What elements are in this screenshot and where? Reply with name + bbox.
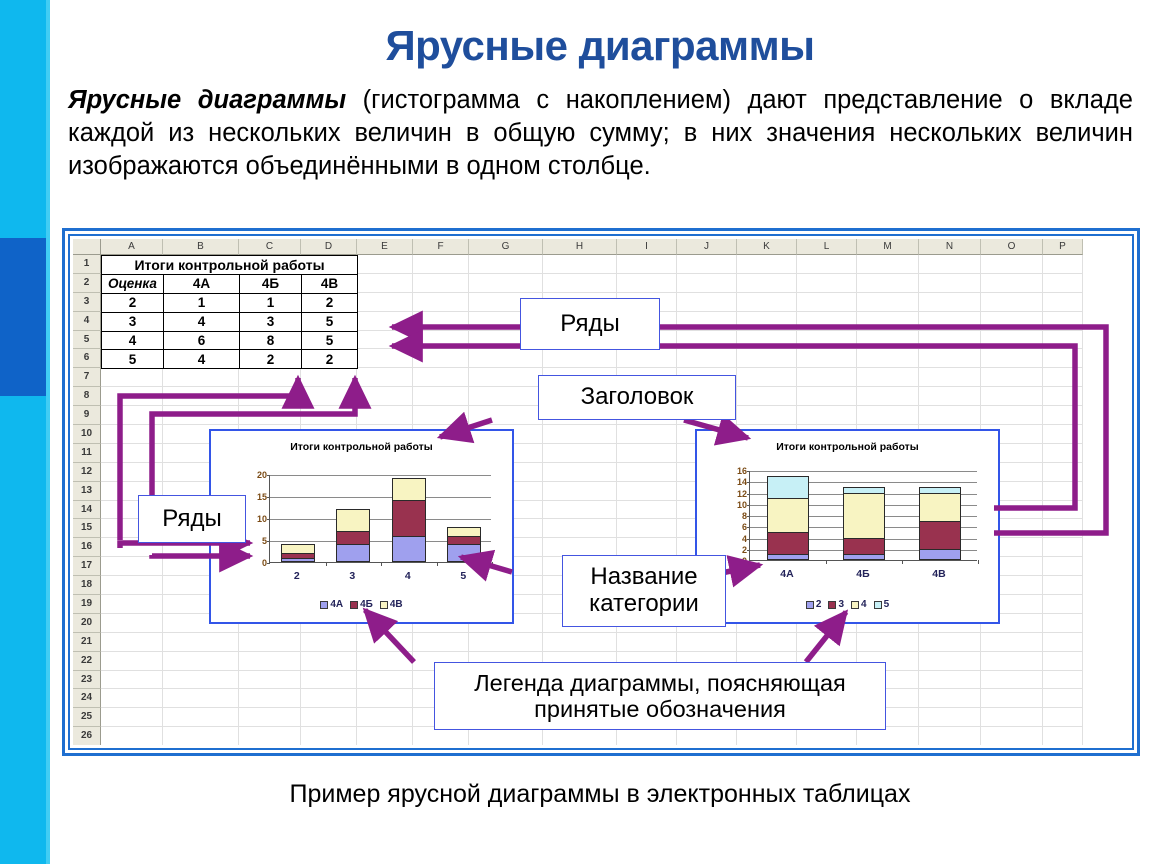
grid-cell[interactable] [981,255,1043,274]
grid-cell[interactable] [857,368,919,387]
grid-cell[interactable] [919,349,981,368]
column-header-M[interactable]: M [857,239,919,255]
grid-cell[interactable] [617,633,677,652]
grid-cell[interactable] [857,255,919,274]
grid-cell[interactable] [919,633,981,652]
grid-cell[interactable] [857,274,919,293]
grid-cell[interactable] [357,652,413,671]
bar-segment[interactable] [843,554,885,560]
grid-cell[interactable] [1043,652,1083,671]
grid-cell[interactable] [737,255,797,274]
table-row: 2112 [102,293,358,312]
row-header-5[interactable]: 5 [73,331,101,350]
table-cell[interactable]: 1 [164,293,240,312]
grid-cell[interactable] [101,708,163,727]
grid-cell[interactable] [469,255,543,274]
grid-cell[interactable] [857,406,919,425]
grid-cell[interactable] [1043,444,1083,463]
column-header-H[interactable]: H [543,239,617,255]
grid-cell[interactable] [1043,349,1083,368]
bar-segment[interactable] [767,554,809,560]
grid-cell[interactable] [919,671,981,690]
row-header-4[interactable]: 4 [73,312,101,331]
legend-entry[interactable]: 3 [828,599,844,610]
grid-cell[interactable] [543,255,617,274]
bar-segment[interactable] [281,544,315,553]
grid-cell[interactable] [101,463,163,482]
grid-cell[interactable] [357,727,413,745]
row-header-25[interactable]: 25 [73,708,101,727]
grid-cell[interactable] [919,293,981,312]
table-title-cell[interactable]: Итоги контрольной работы [102,256,358,275]
row-header-6[interactable]: 6 [73,349,101,368]
table-cell[interactable]: 2 [302,293,358,312]
row-header-22[interactable]: 22 [73,652,101,671]
row-header-24[interactable]: 24 [73,689,101,708]
grid-cell[interactable] [677,274,737,293]
grid-cell[interactable] [981,708,1043,727]
legend-entry[interactable]: 2 [806,599,822,610]
grid-cell[interactable] [101,444,163,463]
grid-cell[interactable] [1043,671,1083,690]
grid-cell[interactable] [163,633,239,652]
grid-cell[interactable] [857,349,919,368]
grid-cell[interactable] [101,557,163,576]
grid-cell[interactable] [737,406,797,425]
table-cell[interactable]: 2 [302,350,358,369]
table-cell[interactable]: 4 [164,350,240,369]
column-header-B[interactable]: B [163,239,239,255]
grid-cell[interactable] [413,312,469,331]
grid-cell[interactable] [413,633,469,652]
grid-cell[interactable] [677,312,737,331]
row-header-21[interactable]: 21 [73,633,101,652]
grid-cell[interactable] [1043,425,1083,444]
grid-cell[interactable] [1043,406,1083,425]
row-header-20[interactable]: 20 [73,614,101,633]
grid-cell[interactable] [239,387,301,406]
grid-cell[interactable] [1043,387,1083,406]
grid-cell[interactable] [737,633,797,652]
grid-cell[interactable] [919,708,981,727]
grid-cell[interactable] [1043,501,1083,520]
grid-cell[interactable] [543,274,617,293]
bar-segment[interactable] [392,478,426,500]
column-header-C[interactable]: C [239,239,301,255]
grid-cell[interactable] [857,387,919,406]
grid-cell[interactable] [919,331,981,350]
column-header-N[interactable]: N [919,239,981,255]
row-header-15[interactable]: 15 [73,519,101,538]
grid-cell[interactable] [1043,482,1083,501]
grid-cell[interactable] [1043,557,1083,576]
grid-cell[interactable] [101,576,163,595]
grid-cell[interactable] [469,633,543,652]
grid-cell[interactable] [163,406,239,425]
grid-cell[interactable] [1043,293,1083,312]
grid-cell[interactable] [543,519,617,538]
grid-cell[interactable] [981,293,1043,312]
table-cell[interactable]: 4 [102,331,164,350]
grid-cell[interactable] [301,689,357,708]
table-cell[interactable]: 6 [164,331,240,350]
grid-cell[interactable] [301,406,357,425]
grid-cell[interactable] [677,633,737,652]
legend-entry[interactable]: 4В [380,599,403,610]
grid-cell[interactable] [101,387,163,406]
grid-cell[interactable] [1043,519,1083,538]
bar-segment[interactable] [843,493,885,538]
stacked-bar[interactable] [919,487,961,560]
bar-segment[interactable] [919,521,961,549]
table-cell[interactable]: 2 [240,350,302,369]
row-header-8[interactable]: 8 [73,387,101,406]
grid-cell[interactable] [543,444,617,463]
grid-cell[interactable] [981,274,1043,293]
gridline [270,519,491,520]
grid-cell[interactable] [413,331,469,350]
grid-cell[interactable] [919,274,981,293]
grid-cell[interactable] [797,349,857,368]
grid-cell[interactable] [617,349,677,368]
table-cell[interactable]: 4 [164,312,240,331]
grid-cell[interactable] [163,671,239,690]
column-header-L[interactable]: L [797,239,857,255]
bar-segment[interactable] [392,536,426,562]
row-header-7[interactable]: 7 [73,368,101,387]
column-header-D[interactable]: D [301,239,357,255]
row-header-1[interactable]: 1 [73,255,101,274]
grid-cell[interactable] [919,652,981,671]
grid-cell[interactable] [919,312,981,331]
grid-cell[interactable] [1043,331,1083,350]
table-header-cell[interactable]: Оценка [102,274,164,293]
grid-cell[interactable] [357,387,413,406]
grid-cell[interactable] [981,331,1043,350]
row-header-19[interactable]: 19 [73,595,101,614]
grid-cell[interactable] [737,274,797,293]
grid-cell[interactable] [413,387,469,406]
grid-cell[interactable] [543,463,617,482]
grid-cell[interactable] [797,331,857,350]
table-header-cell[interactable]: 4А [164,274,240,293]
row-header-13[interactable]: 13 [73,482,101,501]
grid-cell[interactable] [239,708,301,727]
grid-cell[interactable] [1043,633,1083,652]
grid-cell[interactable] [357,689,413,708]
grid-cell[interactable] [357,255,413,274]
column-header-F[interactable]: F [413,239,469,255]
bar-segment[interactable] [767,476,809,499]
column-header-I[interactable]: I [617,239,677,255]
grid-cell[interactable] [617,519,677,538]
grid-cell[interactable] [1043,576,1083,595]
grid-cell[interactable] [163,652,239,671]
grid-cell[interactable] [163,387,239,406]
grid-cell[interactable] [301,727,357,745]
grid-cell[interactable] [469,387,543,406]
grid-cell[interactable] [737,368,797,387]
grid-cell[interactable] [981,368,1043,387]
grid-cell[interactable] [239,368,301,387]
grid-cell[interactable] [737,293,797,312]
grid-cell[interactable] [163,708,239,727]
grid-cell[interactable] [797,312,857,331]
grid-cell[interactable] [617,444,677,463]
stacked-bar[interactable] [843,487,885,560]
grid-cell[interactable] [239,671,301,690]
grid-cell[interactable] [857,633,919,652]
bar-segment[interactable] [336,544,370,562]
grid-cell[interactable] [101,727,163,745]
grid-cell[interactable] [543,482,617,501]
grid-cell[interactable] [413,255,469,274]
grid-cell[interactable] [797,387,857,406]
grid-cell[interactable] [239,406,301,425]
grid-cell[interactable] [101,689,163,708]
row-header-17[interactable]: 17 [73,557,101,576]
grid-cell[interactable] [737,349,797,368]
grid-cell[interactable] [797,368,857,387]
grid-cell[interactable] [981,349,1043,368]
grid-cell[interactable] [413,274,469,293]
grid-cell[interactable] [677,349,737,368]
row-header-23[interactable]: 23 [73,671,101,690]
column-header-E[interactable]: E [357,239,413,255]
grid-cell[interactable] [981,312,1043,331]
grid-cell[interactable] [469,274,543,293]
grid-cell[interactable] [981,689,1043,708]
column-header-P[interactable]: P [1043,239,1083,255]
table-cell[interactable]: 8 [240,331,302,350]
grid-cell[interactable] [919,689,981,708]
grid-cell[interactable] [239,689,301,708]
grid-cell[interactable] [1043,255,1083,274]
grid-cell[interactable] [357,331,413,350]
grid-cell[interactable] [101,633,163,652]
callout-category-name: Название категории [562,555,726,627]
chart-left-legend[interactable]: 4А4Б4В [211,599,512,610]
grid-cell[interactable] [101,425,163,444]
table-cell[interactable]: 5 [302,312,358,331]
grid-cell[interactable] [857,312,919,331]
grid-cell[interactable] [357,633,413,652]
x-tick-mark [826,560,827,564]
grid-cell[interactable] [797,274,857,293]
legend-entry[interactable]: 4Б [350,599,373,610]
bar-segment[interactable] [447,536,481,545]
grid-cell[interactable] [617,482,677,501]
table-cell[interactable]: 5 [302,331,358,350]
table-header-cell[interactable]: 4В [302,274,358,293]
grid-cell[interactable] [543,349,617,368]
grid-cell[interactable] [857,331,919,350]
stacked-bar[interactable] [767,476,809,560]
grid-cell[interactable] [919,255,981,274]
grid-cell[interactable] [101,595,163,614]
grid-cell[interactable] [101,652,163,671]
bar-segment[interactable] [281,558,315,562]
grid-cell[interactable] [301,387,357,406]
grid-cell[interactable] [239,727,301,745]
grid-cell[interactable] [1043,689,1083,708]
grid-cell[interactable] [543,425,617,444]
grid-cell[interactable] [357,274,413,293]
grid-cell[interactable] [617,255,677,274]
grid-cell[interactable] [797,633,857,652]
grid-cell[interactable] [357,293,413,312]
grid-cell[interactable] [413,406,469,425]
grid-cell[interactable] [1043,595,1083,614]
grid-cell[interactable] [617,425,677,444]
column-header-G[interactable]: G [469,239,543,255]
row-header-3[interactable]: 3 [73,293,101,312]
table-cell[interactable]: 3 [102,312,164,331]
grid-cell[interactable] [1043,614,1083,633]
grid-cell[interactable] [413,293,469,312]
table-header-cell[interactable]: 4Б [240,274,302,293]
column-header-J[interactable]: J [677,239,737,255]
grid-cell[interactable] [101,614,163,633]
grid-cell[interactable] [1043,538,1083,557]
row-header-12[interactable]: 12 [73,463,101,482]
grid-cell[interactable] [1043,368,1083,387]
table-cell[interactable]: 2 [102,293,164,312]
grid-cell[interactable] [357,368,413,387]
bar-segment[interactable] [447,544,481,562]
row-header-10[interactable]: 10 [73,425,101,444]
grid-cell[interactable] [357,671,413,690]
chart-panel-right[interactable]: Итоги контрольной работы 0246810121416 2… [695,429,1000,624]
grid-cell[interactable] [737,312,797,331]
grid-cell[interactable] [1043,312,1083,331]
grid-cell[interactable] [677,255,737,274]
grid-cell[interactable] [797,293,857,312]
select-all-corner[interactable] [73,239,101,255]
grid-cell[interactable] [797,255,857,274]
grid-cell[interactable] [981,671,1043,690]
stacked-bar[interactable] [392,478,426,562]
grid-cell[interactable] [101,406,163,425]
grid-cell[interactable] [737,331,797,350]
grid-cell[interactable] [357,708,413,727]
grid-cell[interactable] [101,368,163,387]
grid-cell[interactable] [1043,727,1083,745]
grid-cell[interactable] [163,689,239,708]
bar-segment[interactable] [767,532,809,555]
grid-cell[interactable] [797,406,857,425]
stacked-bar[interactable] [336,509,370,562]
legend-entry[interactable]: 4А [320,599,343,610]
grid-cell[interactable] [919,368,981,387]
grid-cell[interactable] [617,501,677,520]
grid-cell[interactable] [543,501,617,520]
bar-segment[interactable] [447,527,481,536]
grid-cell[interactable] [981,633,1043,652]
grid-cell[interactable] [857,293,919,312]
bar-segment[interactable] [767,498,809,532]
grid-cell[interactable] [919,727,981,745]
grid-cell[interactable] [469,349,543,368]
grid-cell[interactable] [1043,274,1083,293]
row-header-2[interactable]: 2 [73,274,101,293]
grid-cell[interactable] [677,331,737,350]
grid-cell[interactable] [981,387,1043,406]
bar-segment[interactable] [919,493,961,521]
grid-cell[interactable] [163,727,239,745]
grid-cell[interactable] [617,463,677,482]
table-cell[interactable]: 3 [240,312,302,331]
chart-right-legend[interactable]: 2345 [697,599,998,610]
column-header-O[interactable]: O [981,239,1043,255]
grid-cell[interactable] [1043,708,1083,727]
grid-cell[interactable] [163,368,239,387]
grid-cell[interactable] [737,387,797,406]
grid-cell[interactable] [981,727,1043,745]
grid-cell[interactable] [239,633,301,652]
y-tick-mark [747,505,750,506]
row-header-16[interactable]: 16 [73,538,101,557]
grid-cell[interactable] [301,368,357,387]
row-header-18[interactable]: 18 [73,576,101,595]
grid-cell[interactable] [919,387,981,406]
bar-segment[interactable] [336,531,370,544]
row-header-11[interactable]: 11 [73,444,101,463]
row-header-26[interactable]: 26 [73,727,101,745]
bar-segment[interactable] [392,500,426,535]
row-header-14[interactable]: 14 [73,501,101,520]
row-header-9[interactable]: 9 [73,406,101,425]
grid-cell[interactable] [677,293,737,312]
grid-cell[interactable] [413,368,469,387]
grid-cell[interactable] [357,349,413,368]
grid-cell[interactable] [301,633,357,652]
bar-segment[interactable] [919,549,961,560]
legend-entry[interactable]: 4 [851,599,867,610]
column-header-A[interactable]: A [101,239,163,255]
grid-cell[interactable] [617,274,677,293]
grid-cell[interactable] [301,671,357,690]
grid-cell[interactable] [469,406,543,425]
legend-entry[interactable]: 5 [874,599,890,610]
grid-cell[interactable] [413,349,469,368]
grid-cell[interactable] [101,671,163,690]
grid-cell[interactable] [301,708,357,727]
grid-cell[interactable] [981,406,1043,425]
table-cell[interactable]: 5 [102,350,164,369]
stacked-bar[interactable] [447,527,481,562]
stacked-bar[interactable] [281,544,315,562]
grid-cell[interactable] [357,312,413,331]
chart-panel-left[interactable]: Итоги контрольной работы 05101520 4А4Б4В… [209,429,514,624]
slide-body: Ярусные диаграммы Ярусные диаграммы (гис… [50,0,1150,864]
bar-segment[interactable] [843,538,885,555]
grid-cell[interactable] [469,368,543,387]
callout-series-left: Ряды [138,495,246,543]
table-cell[interactable]: 1 [240,293,302,312]
column-header-K[interactable]: K [737,239,797,255]
grid-cell[interactable] [543,633,617,652]
grid-cell[interactable] [1043,463,1083,482]
y-axis-tick-label: 4 [742,534,747,544]
y-tick-mark [747,561,750,562]
grid-cell[interactable] [301,652,357,671]
grid-cell[interactable] [919,406,981,425]
grid-cell[interactable] [357,406,413,425]
grid-cell[interactable] [239,652,301,671]
bar-segment[interactable] [336,509,370,531]
grid-cell[interactable] [981,652,1043,671]
